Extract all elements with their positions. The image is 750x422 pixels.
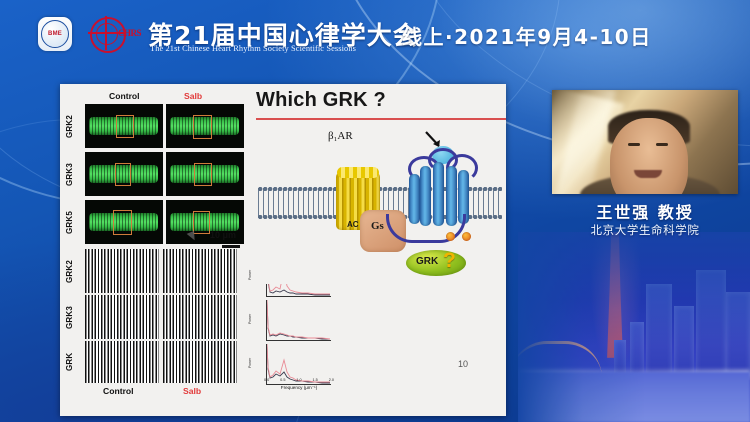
binary-texture-panel: GRK2 GRK3 GRK Control Salb (67, 247, 247, 395)
binary-cell (85, 341, 159, 383)
conference-header: BME CHRS 第21届中国心律学大会 The 21st Chinese He… (0, 0, 750, 66)
micrograph-row-grk5: GRK5 (65, 200, 81, 244)
micrograph-panel: Control Salb GRK2 GRK3 GRK5 (67, 90, 247, 242)
broadcast-stage: BME CHRS 第21届中国心律学大会 The 21st Chinese He… (0, 0, 750, 422)
spectra-xticks: 0.0 0.5 1.0 1.5 2.0 (264, 378, 334, 382)
binary-row-grk2: GRK2 (65, 249, 81, 293)
scale-bar-label: 10 μm (210, 230, 236, 240)
xtick: 2.0 (329, 378, 334, 382)
xtick: 0.5 (280, 378, 285, 382)
binary-cell (163, 341, 237, 383)
micrograph-cell (166, 104, 244, 148)
micrograph-cell (85, 104, 163, 148)
micrograph-column-salb: Salb (184, 91, 202, 101)
gs-label: Gs (371, 220, 384, 232)
phosphate-group (462, 232, 471, 241)
presentation-slide: Which GRK ? 10 Control Salb GRK2 GRK3 GR… (60, 84, 506, 416)
chrs-logo-label: CHRS (118, 28, 141, 38)
grk-label: GRK (416, 256, 438, 267)
conference-title-en: The 21st Chinese Heart Rhythm Society Sc… (150, 44, 356, 53)
city-skyline-backdrop (518, 232, 750, 422)
receptor-membrane-diagram: β₁AR AC Gs (256, 124, 504, 284)
bme-logo-label: BME (48, 31, 62, 37)
spectra-panel-grk3 (266, 300, 331, 341)
spectra-ylabel: Power (248, 302, 258, 336)
binary-column-control: Control (103, 386, 134, 396)
binary-cell (163, 249, 237, 293)
xtick: 0.0 (264, 378, 269, 382)
speaker-webcam-feed[interactable] (552, 90, 738, 194)
micrograph-cell (85, 152, 163, 196)
grk-kinase: GRK ? (406, 250, 466, 276)
slide-page-number: 10 (458, 359, 468, 369)
xtick: 1.5 (313, 378, 318, 382)
b1ar-label: β₁AR (328, 130, 353, 142)
micrograph-row-grk2: GRK2 (65, 104, 81, 148)
binary-cell (163, 295, 237, 339)
conference-date: 线上·2021年9月4-10日 (402, 21, 652, 50)
binary-row-grk3: GRK3 (65, 295, 81, 339)
micrograph-cell (85, 200, 163, 244)
bme-logo-icon: BME (38, 17, 72, 51)
micrograph-cell (166, 152, 244, 196)
title-underline (256, 118, 506, 120)
speaker-name: 王世强 教授 (552, 199, 738, 223)
binary-cell (85, 249, 159, 293)
xtick: 1.0 (296, 378, 301, 382)
micrograph-row-grk3: GRK3 (65, 152, 81, 196)
chrs-heart-logo-icon: CHRS (88, 16, 154, 52)
speaker-affiliation: 北京大学生命科学院 (552, 222, 738, 238)
spectra-xlabel: Frequency (μm⁻¹) (262, 385, 336, 391)
phosphate-group (446, 232, 455, 241)
beta1-adrenergic-receptor (402, 140, 478, 244)
binary-cell (85, 295, 159, 339)
slide-title: Which GRK ? (256, 89, 386, 112)
ac-label: AC (347, 220, 359, 229)
binary-row-grk: GRK (65, 341, 81, 383)
spectra-ylabel: Power (248, 346, 258, 380)
binary-column-salb: Salb (183, 386, 201, 396)
grk-question-mark: ? (443, 249, 456, 273)
micrograph-column-control: Control (109, 91, 140, 101)
